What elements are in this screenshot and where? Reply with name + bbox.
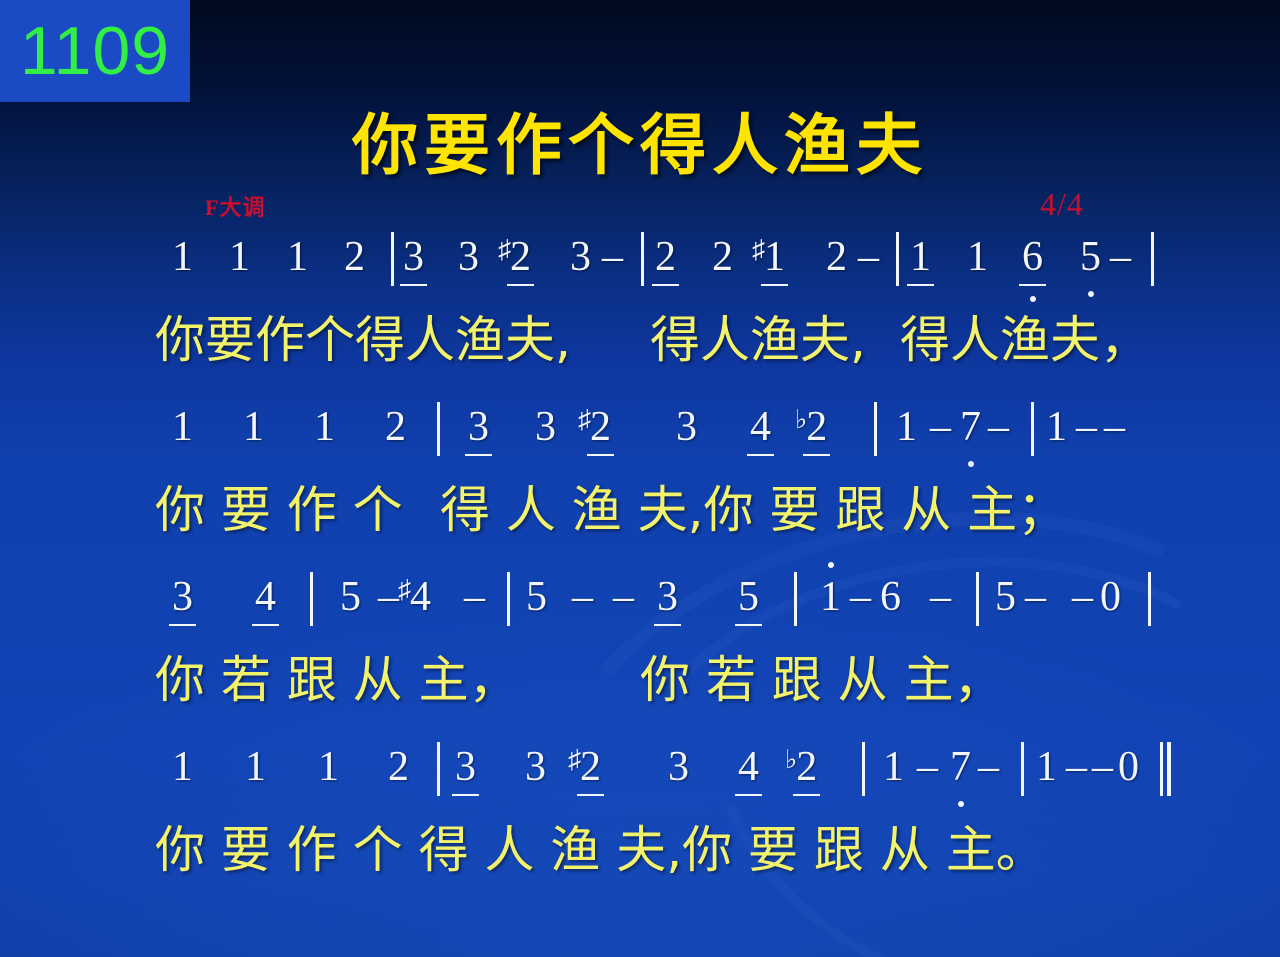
hold-dash: – <box>1072 576 1093 618</box>
note-number: 4 <box>255 576 276 618</box>
final-barline <box>1160 742 1163 796</box>
dash-glyph: – <box>1104 406 1125 448</box>
note-number: 2 <box>826 236 847 278</box>
dash-glyph: – <box>858 236 879 278</box>
dash-glyph: – <box>613 576 634 618</box>
lyric-phrase: 你要作个得人渔夫, <box>155 314 571 367</box>
lyrics-line: 你 要 作 个得 人 渔 夫,你 要 跟 从 主； <box>0 484 1280 576</box>
hold-dash: – <box>978 746 999 788</box>
digit-glyph: 3 <box>570 236 591 278</box>
barline <box>1151 232 1154 286</box>
note-number: ♭2 <box>785 746 817 788</box>
hold-dash: – <box>917 746 938 788</box>
note-number: 1 <box>910 236 931 278</box>
hold-dash: – <box>464 576 485 618</box>
barline <box>862 742 865 796</box>
digit-glyph: 3 <box>657 576 678 618</box>
digit-glyph: 1 <box>967 236 988 278</box>
hold-dash: – <box>1025 576 1046 618</box>
hold-dash: – <box>858 236 879 278</box>
note-number: 3 <box>458 236 479 278</box>
barline <box>896 232 899 286</box>
note-number: 0 <box>1118 746 1139 788</box>
barline <box>641 232 644 286</box>
dash-glyph: – <box>1092 746 1113 788</box>
digit-glyph: 1 <box>896 406 917 448</box>
barline <box>437 402 440 456</box>
note-number: 1 <box>287 236 308 278</box>
barline <box>507 572 510 626</box>
note-number: 3 <box>535 406 556 448</box>
note-number: 3 <box>468 406 489 448</box>
digit-glyph: 5 <box>738 576 759 618</box>
note-number: 4 <box>738 746 759 788</box>
digit-glyph: 2 <box>385 406 406 448</box>
page-title: 你要作个得人渔夫 <box>0 92 1280 188</box>
note-number: ♯4 <box>398 576 431 618</box>
lyric-phrase: 你 要 作 个 <box>155 484 403 537</box>
digit-glyph: 2 <box>796 746 817 788</box>
barline <box>1021 742 1024 796</box>
note-number: 1 <box>967 236 988 278</box>
hold-dash: – <box>930 406 951 448</box>
note-number: 3 <box>172 576 193 618</box>
lyrics-line: 你 要 作 个 得 人 渔 夫,你 要 跟 从 主。 <box>0 824 1280 916</box>
dash-glyph: – <box>978 746 999 788</box>
digit-glyph: 2 <box>655 236 676 278</box>
digit-glyph: 1 <box>764 236 785 278</box>
note-number: ♯1 <box>752 236 785 278</box>
note-number: 1 <box>172 236 193 278</box>
digit-glyph: 2 <box>712 236 733 278</box>
note-number: 1 <box>896 406 917 448</box>
note-number: 3 <box>570 236 591 278</box>
notation-line: 111233♯23–22♯12–1165– <box>0 236 1280 314</box>
lyric-phrase: 你 若 跟 从 主， <box>155 654 519 707</box>
note-number: 4 <box>750 406 771 448</box>
barline <box>794 572 797 626</box>
digit-glyph: 6 <box>1022 236 1043 278</box>
digit-glyph: 4 <box>738 746 759 788</box>
digit-glyph: 3 <box>468 406 489 448</box>
digit-glyph: 1 <box>318 746 339 788</box>
note-number: 2 <box>655 236 676 278</box>
digit-glyph: 5 <box>995 576 1016 618</box>
note-number: 1 <box>243 406 264 448</box>
dash-glyph: – <box>1072 576 1093 618</box>
digit-glyph: 5 <box>526 576 547 618</box>
hold-dash: – <box>930 576 951 618</box>
digit-glyph: 2 <box>590 406 611 448</box>
note-number: 1 <box>229 236 250 278</box>
digit-glyph: 1 <box>229 236 250 278</box>
dash-glyph: – <box>378 576 399 618</box>
digit-glyph: 1 <box>883 746 904 788</box>
digit-glyph: 4 <box>410 576 431 618</box>
digit-glyph: 2 <box>826 236 847 278</box>
notation-line: 111233♯234♭21–7–1––0 <box>0 746 1280 824</box>
dash-glyph: – <box>1076 406 1097 448</box>
hold-dash: – <box>1092 746 1113 788</box>
digit-glyph: 3 <box>668 746 689 788</box>
lyrics-line: 你 若 跟 从 主，你 若 跟 从 主， <box>0 654 1280 746</box>
dash-glyph: – <box>917 746 938 788</box>
digit-glyph: 1 <box>172 746 193 788</box>
dash-glyph: – <box>1025 576 1046 618</box>
hold-dash: – <box>613 576 634 618</box>
lyric-phrase: 你 若 跟 从 主， <box>640 654 1004 707</box>
notation-line: 111233♯234♭21–7–1–– <box>0 406 1280 484</box>
digit-glyph: 2 <box>344 236 365 278</box>
dash-glyph: – <box>930 576 951 618</box>
digit-glyph: 1 <box>245 746 266 788</box>
note-number: ♯2 <box>498 236 531 278</box>
dash-glyph: – <box>572 576 593 618</box>
digit-glyph: 1 <box>910 236 931 278</box>
note-number: 3 <box>657 576 678 618</box>
hymn-slide: 1109 你要作个得人渔夫 F大调 4/4 111233♯23–22♯12–11… <box>0 0 1280 957</box>
lyrics-line: 你要作个得人渔夫,得人渔夫,得人渔夫， <box>0 314 1280 406</box>
digit-glyph: 1 <box>243 406 264 448</box>
digit-glyph: 2 <box>806 406 827 448</box>
note-number: 2 <box>344 236 365 278</box>
note-number: 5 <box>738 576 759 618</box>
score-body: 111233♯23–22♯12–1165–你要作个得人渔夫,得人渔夫,得人渔夫，… <box>0 236 1280 916</box>
digit-glyph: 1 <box>287 236 308 278</box>
note-number: ♭2 <box>795 406 827 448</box>
dash-glyph: – <box>464 576 485 618</box>
digit-glyph: 0 <box>1118 746 1139 788</box>
hold-dash: – <box>1066 746 1087 788</box>
digit-glyph: 1 <box>172 406 193 448</box>
digit-glyph: 7 <box>960 406 981 448</box>
note-number: 2 <box>385 406 406 448</box>
note-number: 3 <box>455 746 476 788</box>
digit-glyph: 6 <box>880 576 901 618</box>
note-number: 2 <box>388 746 409 788</box>
note-number: 7 <box>950 746 971 788</box>
lyric-phrase: 得人渔夫, <box>650 314 866 367</box>
digit-glyph: 5 <box>340 576 361 618</box>
note-number: 3 <box>525 746 546 788</box>
digit-glyph: 1 <box>314 406 335 448</box>
lyric-phrase: 你 要 作 个 得 人 渔 夫,你 要 跟 从 主。 <box>155 824 1046 877</box>
note-number: 1 <box>1046 406 1067 448</box>
hold-dash: – <box>1076 406 1097 448</box>
hold-dash: – <box>572 576 593 618</box>
note-number: 1 <box>314 406 335 448</box>
hold-dash: – <box>988 406 1009 448</box>
barline <box>437 742 440 796</box>
lyric-phrase: 得人渔夫， <box>900 314 1150 367</box>
lyric-phrase: 得 人 渔 夫,你 要 跟 从 主； <box>440 484 1067 537</box>
note-number: 1 <box>172 746 193 788</box>
dash-glyph: – <box>1066 746 1087 788</box>
digit-glyph: 2 <box>510 236 531 278</box>
note-number: 2 <box>712 236 733 278</box>
hold-dash: – <box>1104 406 1125 448</box>
note-number: 3 <box>676 406 697 448</box>
note-number: 1 <box>245 746 266 788</box>
note-number: 7 <box>960 406 981 448</box>
barline <box>976 572 979 626</box>
barline <box>1031 402 1034 456</box>
dash-glyph: – <box>602 236 623 278</box>
dash-glyph: – <box>1110 236 1131 278</box>
hymn-number-badge: 1109 <box>0 0 190 102</box>
dash-glyph: – <box>850 576 871 618</box>
hold-dash: – <box>378 576 399 618</box>
score-meta-row: F大调 4/4 <box>0 190 1280 224</box>
score-system: 111233♯234♭21–7–1––你 要 作 个得 人 渔 夫,你 要 跟 … <box>0 406 1280 576</box>
note-number: 1 <box>318 746 339 788</box>
digit-glyph: 7 <box>950 746 971 788</box>
digit-glyph: 3 <box>676 406 697 448</box>
dash-glyph: – <box>930 406 951 448</box>
note-number: 3 <box>668 746 689 788</box>
note-number: 0 <box>1100 576 1121 618</box>
note-number: 5 <box>526 576 547 618</box>
barline <box>391 232 394 286</box>
hold-dash: – <box>602 236 623 278</box>
note-number: 1 <box>883 746 904 788</box>
digit-glyph: 3 <box>535 406 556 448</box>
score-system: 345–♯4–5––351–6–5––0你 若 跟 从 主，你 若 跟 从 主， <box>0 576 1280 746</box>
note-number: 1 <box>820 576 841 618</box>
note-number: 6 <box>880 576 901 618</box>
barline <box>310 572 313 626</box>
note-number: 5 <box>1080 236 1101 278</box>
note-number: 5 <box>340 576 361 618</box>
digit-glyph: 1 <box>820 576 841 618</box>
note-number: 3 <box>403 236 424 278</box>
digit-glyph: 1 <box>1046 406 1067 448</box>
barline <box>1148 572 1151 626</box>
barline <box>874 402 877 456</box>
hold-dash: – <box>1110 236 1131 278</box>
digit-glyph: 3 <box>403 236 424 278</box>
digit-glyph: 5 <box>1080 236 1101 278</box>
hymn-number: 1109 <box>20 17 170 85</box>
note-number: 5 <box>995 576 1016 618</box>
note-number: 6 <box>1022 236 1043 278</box>
note-number: 1 <box>1036 746 1057 788</box>
time-signature: 4/4 <box>1040 186 1084 223</box>
note-number: ♯2 <box>568 746 601 788</box>
digit-glyph: 1 <box>1036 746 1057 788</box>
digit-glyph: 0 <box>1100 576 1121 618</box>
digit-glyph: 2 <box>580 746 601 788</box>
digit-glyph: 4 <box>750 406 771 448</box>
digit-glyph: 3 <box>172 576 193 618</box>
dash-glyph: – <box>988 406 1009 448</box>
digit-glyph: 2 <box>388 746 409 788</box>
digit-glyph: 3 <box>525 746 546 788</box>
notation-line: 345–♯4–5––351–6–5––0 <box>0 576 1280 654</box>
note-number: ♯2 <box>578 406 611 448</box>
score-system: 111233♯234♭21–7–1––0你 要 作 个 得 人 渔 夫,你 要 … <box>0 746 1280 916</box>
digit-glyph: 4 <box>255 576 276 618</box>
key-signature: F大调 <box>205 190 265 222</box>
digit-glyph: 3 <box>455 746 476 788</box>
hold-dash: – <box>850 576 871 618</box>
digit-glyph: 3 <box>458 236 479 278</box>
score-system: 111233♯23–22♯12–1165–你要作个得人渔夫,得人渔夫,得人渔夫， <box>0 236 1280 406</box>
digit-glyph: 1 <box>172 236 193 278</box>
note-number: 1 <box>172 406 193 448</box>
